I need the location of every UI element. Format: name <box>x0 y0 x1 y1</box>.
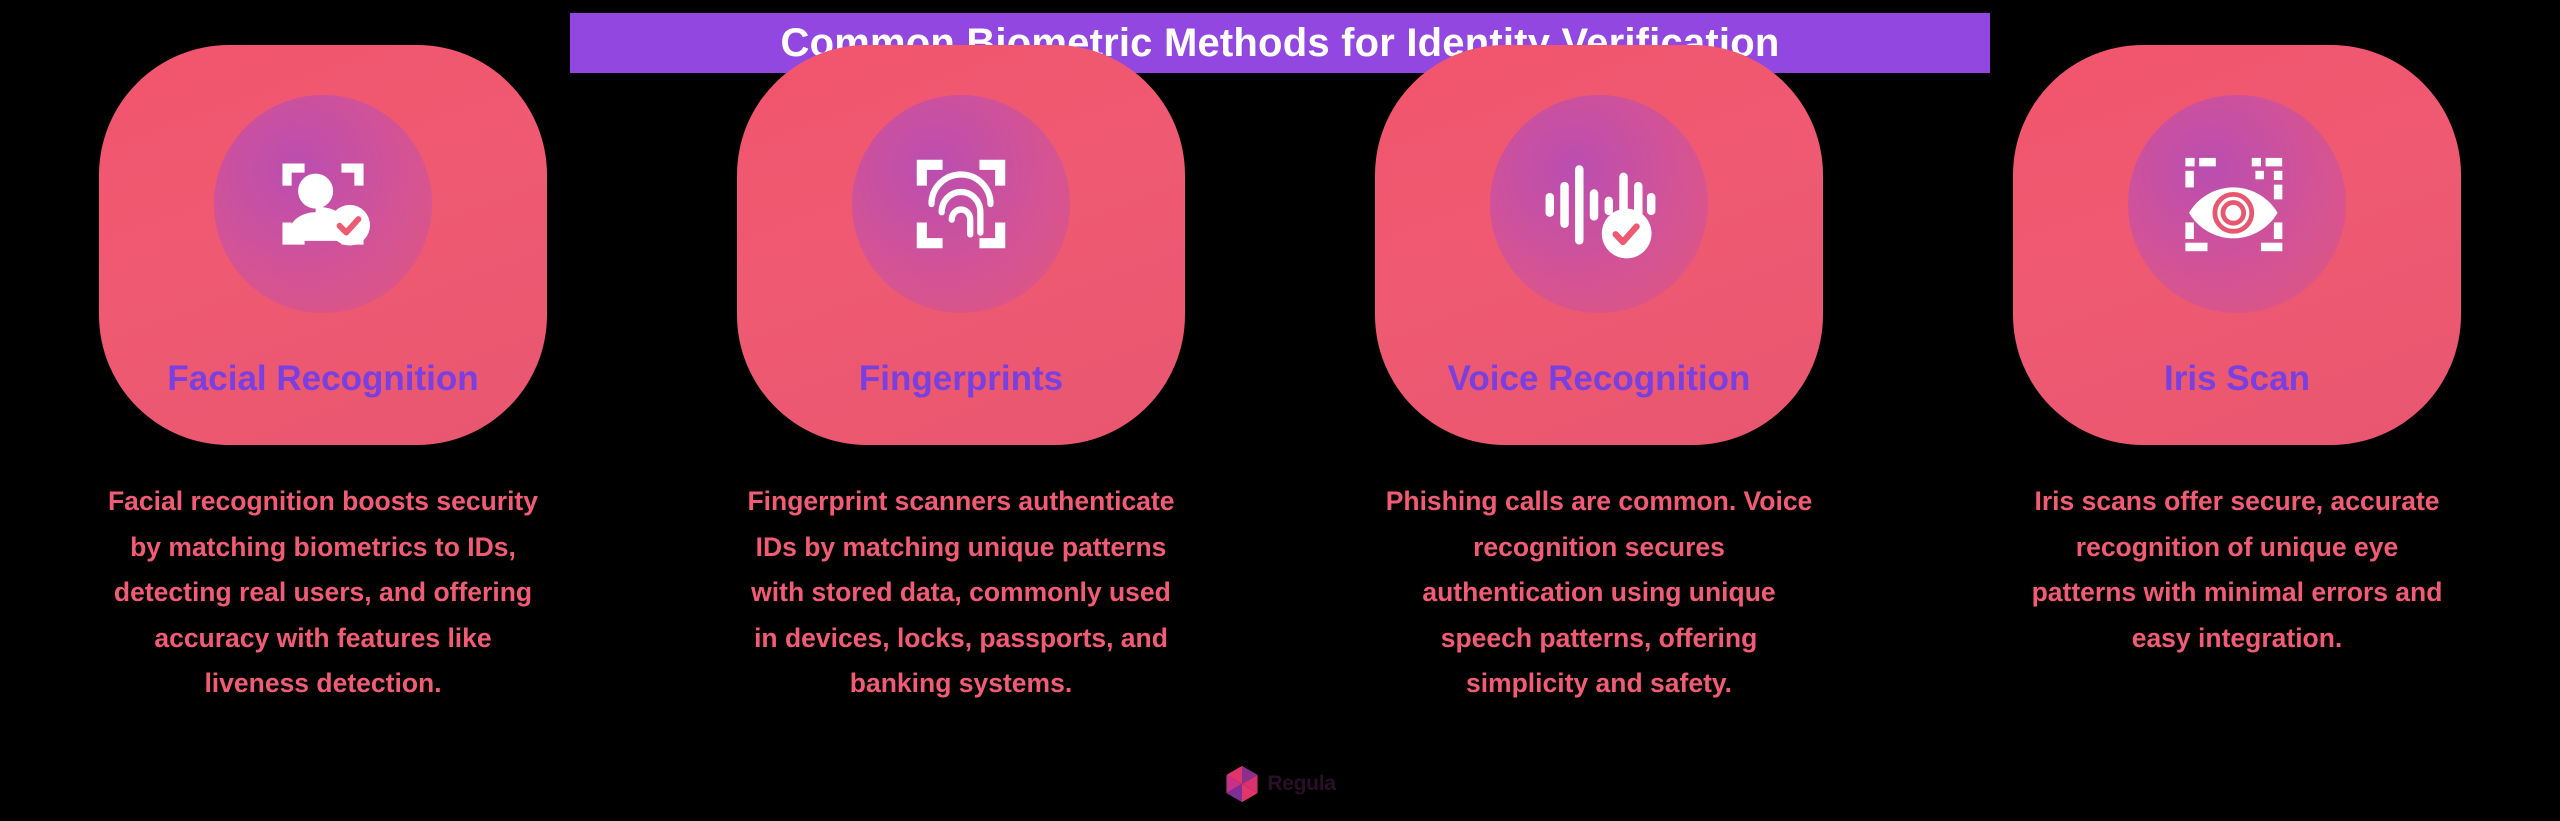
iris-eye-scan-icon <box>2178 145 2296 263</box>
card-title: Voice Recognition <box>1375 359 1823 399</box>
logo-wordmark: Regula <box>1267 772 1335 796</box>
card-visual-panel: Iris Scan <box>2013 45 2461 445</box>
card-visual-panel: Voice Recognition <box>1375 45 1823 445</box>
icon-circle <box>852 95 1070 313</box>
fingerprint-scan-icon <box>902 145 1020 263</box>
icon-circle <box>2128 95 2346 313</box>
card-description: Facial recognition boosts security by ma… <box>108 479 538 707</box>
card-title: Iris Scan <box>2013 359 2461 399</box>
icon-circle <box>214 95 432 313</box>
face-scan-verified-icon <box>264 145 382 263</box>
footer-logo[interactable]: Regula <box>0 765 2560 803</box>
card-facial-recognition[interactable]: Facial Recognition Facial recognition bo… <box>63 45 583 707</box>
card-title: Facial Recognition <box>99 359 547 399</box>
biometric-methods-card-row: Facial Recognition Facial recognition bo… <box>0 45 2560 745</box>
card-iris-scan[interactable]: Iris Scan Iris scans offer secure, accur… <box>1977 45 2497 661</box>
hexagon-facets-logo <box>1224 765 1260 803</box>
card-description: Fingerprint scanners authenticate IDs by… <box>746 479 1176 707</box>
voice-waveform-verified-icon <box>1540 145 1658 263</box>
card-description: Phishing calls are common. Voice recogni… <box>1384 479 1814 707</box>
card-description: Iris scans offer secure, accurate recogn… <box>2022 479 2452 661</box>
card-visual-panel: Fingerprints <box>737 45 1185 445</box>
card-title: Fingerprints <box>737 359 1185 399</box>
card-voice-recognition[interactable]: Voice Recognition Phishing calls are com… <box>1339 45 1859 707</box>
icon-circle <box>1490 95 1708 313</box>
card-fingerprints[interactable]: Fingerprints Fingerprint scanners authen… <box>701 45 1221 707</box>
card-visual-panel: Facial Recognition <box>99 45 547 445</box>
